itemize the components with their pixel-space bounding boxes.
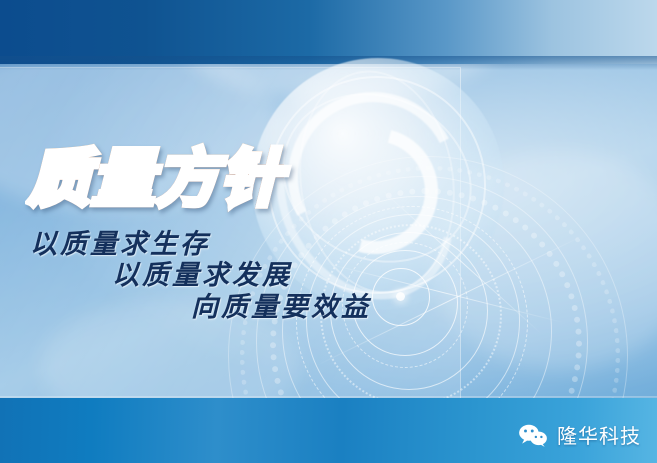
- spiral-hub: [396, 292, 405, 301]
- wechat-icon: [518, 423, 548, 447]
- brand-name: 隆华科技: [557, 420, 641, 449]
- top-color-band: [0, 0, 657, 64]
- footer-brand[interactable]: 隆华科技: [518, 420, 641, 449]
- quality-policy-banner: 质量方针 以质量求生存 以质量求发展 向质量要效益 隆华科技: [0, 0, 657, 463]
